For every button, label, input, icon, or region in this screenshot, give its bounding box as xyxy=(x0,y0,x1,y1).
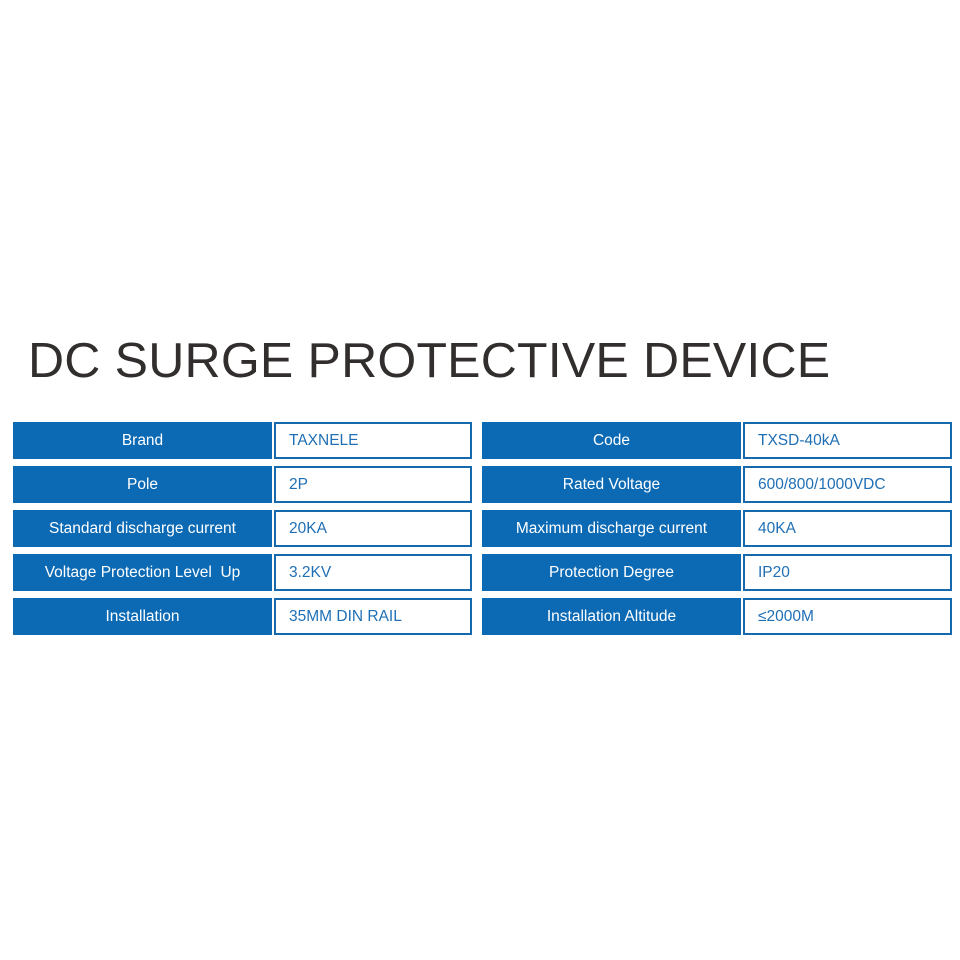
spec-label-code: Code xyxy=(482,422,741,459)
table-row: Protection Degree IP20 xyxy=(482,554,952,591)
table-row: Installation 35MM DIN RAIL xyxy=(13,598,472,635)
spec-label-brand: Brand xyxy=(13,422,272,459)
product-spec-sheet: DC SURGE PROTECTIVE DEVICE Brand TAXNELE… xyxy=(0,0,960,960)
table-row: Rated Voltage 600/800/1000VDC xyxy=(482,466,952,503)
spec-label-voltage-protection-level: Voltage Protection Level Up xyxy=(13,554,272,591)
table-row: Standard discharge current 20KA xyxy=(13,510,472,547)
table-row: Pole 2P xyxy=(13,466,472,503)
spec-value-brand: TAXNELE xyxy=(274,422,472,459)
spec-label-rated-voltage: Rated Voltage xyxy=(482,466,741,503)
spec-value-rated-voltage: 600/800/1000VDC xyxy=(743,466,952,503)
spec-value-protection-degree: IP20 xyxy=(743,554,952,591)
spec-table-right: Code TXSD-40kA Rated Voltage 600/800/100… xyxy=(482,422,952,635)
table-row: Installation Altitude ≤2000M xyxy=(482,598,952,635)
table-row: Maximum discharge current 40KA xyxy=(482,510,952,547)
spec-value-standard-discharge-current: 20KA xyxy=(274,510,472,547)
spec-value-installation-altitude: ≤2000M xyxy=(743,598,952,635)
spec-label-protection-degree: Protection Degree xyxy=(482,554,741,591)
spec-label-installation-altitude: Installation Altitude xyxy=(482,598,741,635)
spec-value-voltage-protection-level: 3.2KV xyxy=(274,554,472,591)
table-row: Voltage Protection Level Up 3.2KV xyxy=(13,554,472,591)
table-row: Code TXSD-40kA xyxy=(482,422,952,459)
page-title: DC SURGE PROTECTIVE DEVICE xyxy=(28,330,950,392)
spec-value-maximum-discharge-current: 40KA xyxy=(743,510,952,547)
spec-label-maximum-discharge-current: Maximum discharge current xyxy=(482,510,741,547)
spec-value-code: TXSD-40kA xyxy=(743,422,952,459)
spec-value-installation: 35MM DIN RAIL xyxy=(274,598,472,635)
table-row: Brand TAXNELE xyxy=(13,422,472,459)
spec-label-pole: Pole xyxy=(13,466,272,503)
spec-value-pole: 2P xyxy=(274,466,472,503)
spec-table-left: Brand TAXNELE Pole 2P Standard discharge… xyxy=(13,422,472,635)
spec-label-standard-discharge-current: Standard discharge current xyxy=(13,510,272,547)
spec-label-installation: Installation xyxy=(13,598,272,635)
